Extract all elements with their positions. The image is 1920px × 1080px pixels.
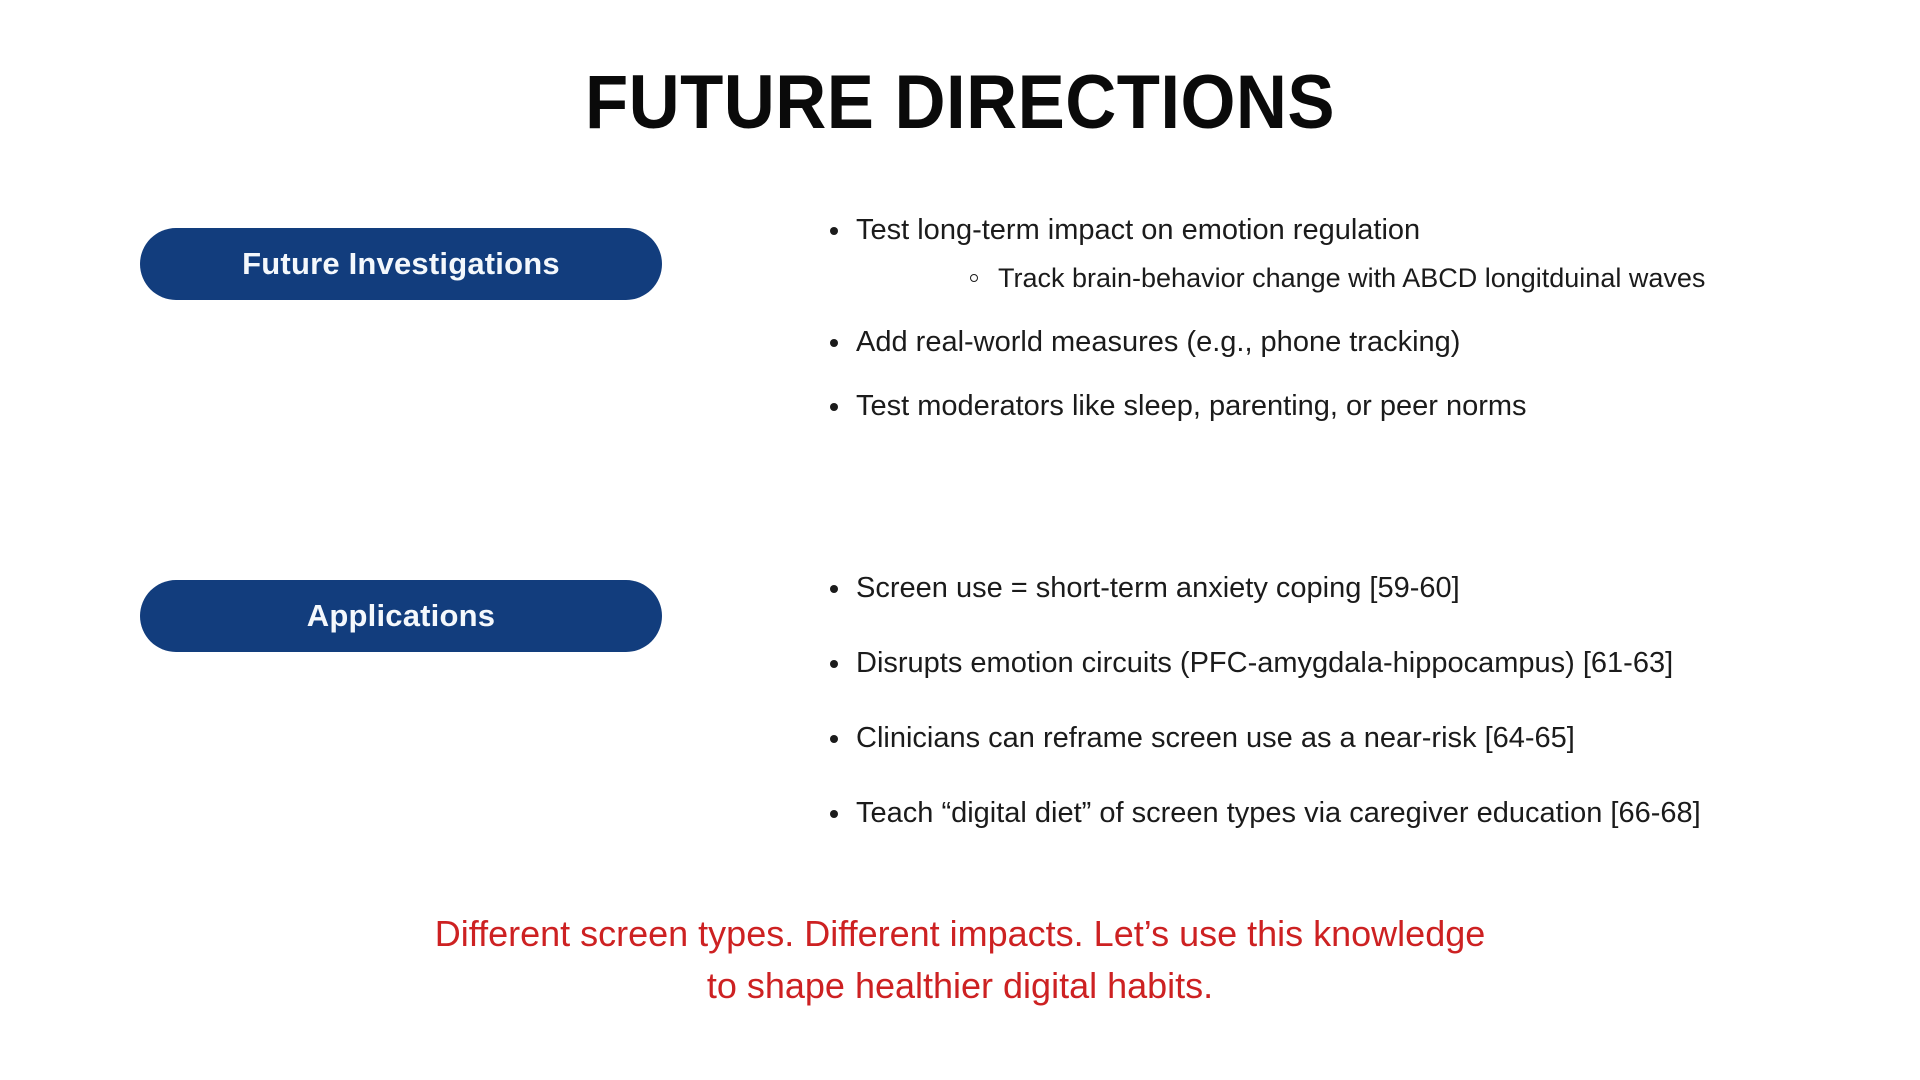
section-pill-applications: Applications (140, 580, 662, 652)
list-item: Clinicians can reframe screen use as a n… (820, 720, 1880, 756)
list-item: Test long-term impact on emotion regulat… (820, 212, 1880, 248)
closing-statement-line-1: Different screen types. Different impact… (0, 908, 1920, 960)
list-item: Test moderators like sleep, parenting, o… (820, 388, 1880, 424)
page-title: FUTURE DIRECTIONS (67, 59, 1853, 147)
list-item: Teach “digital diet” of screen types via… (820, 795, 1880, 831)
bullet-list-future-investigations: Test long-term impact on emotion regulat… (820, 212, 1880, 424)
list-item: Screen use = short-term anxiety coping [… (820, 570, 1880, 606)
list-item-sub: Track brain-behavior change with ABCD lo… (820, 260, 1880, 296)
list-item: Add real-world measures (e.g., phone tra… (820, 324, 1880, 360)
list-item: Disrupts emotion circuits (PFC-amygdala-… (820, 645, 1880, 681)
section-pill-future-investigations: Future Investigations (140, 228, 662, 300)
closing-statement-line-2: to shape healthier digital habits. (0, 960, 1920, 1012)
section-pill-label: Applications (307, 599, 495, 633)
bullet-list-applications: Screen use = short-term anxiety coping [… (820, 570, 1880, 870)
closing-statement: Different screen types. Different impact… (0, 908, 1920, 1012)
section-pill-label: Future Investigations (242, 247, 560, 281)
